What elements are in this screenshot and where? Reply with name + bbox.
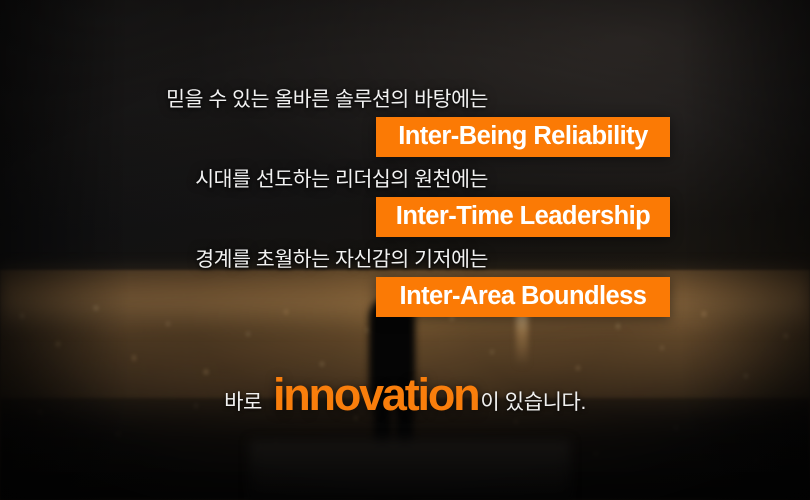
korean-lead-line-3: 경계를 초월하는 자신감의 기저에는 — [0, 242, 488, 272]
highlight-box-3: Inter-Area Boundless — [376, 277, 670, 317]
highlight-box-1: Inter-Being Reliability — [376, 117, 670, 157]
korean-lead-line-2: 시대를 선도하는 리더십의 원천에는 — [0, 162, 488, 192]
innovation-banner: 믿을 수 있는 올바른 솔루션의 바탕에는 Inter-Being Reliab… — [0, 0, 810, 500]
highlight-label-1: Inter-Being Reliability — [398, 124, 647, 150]
highlight-box-2: Inter-Time Leadership — [376, 197, 670, 237]
highlight-label-2: Inter-Time Leadership — [396, 204, 650, 230]
closing-strapline: 바로 innovation 이 있습니다. — [0, 369, 810, 417]
closing-prefix: 바로 — [224, 386, 262, 416]
closing-keyword-innovation: innovation — [273, 369, 478, 421]
banner-content: 믿을 수 있는 올바른 솔루션의 바탕에는 Inter-Being Reliab… — [0, 0, 810, 500]
closing-suffix: 이 있습니다. — [480, 386, 585, 416]
korean-lead-line-1: 믿을 수 있는 올바른 솔루션의 바탕에는 — [0, 82, 488, 112]
highlight-label-3: Inter-Area Boundless — [400, 284, 647, 310]
